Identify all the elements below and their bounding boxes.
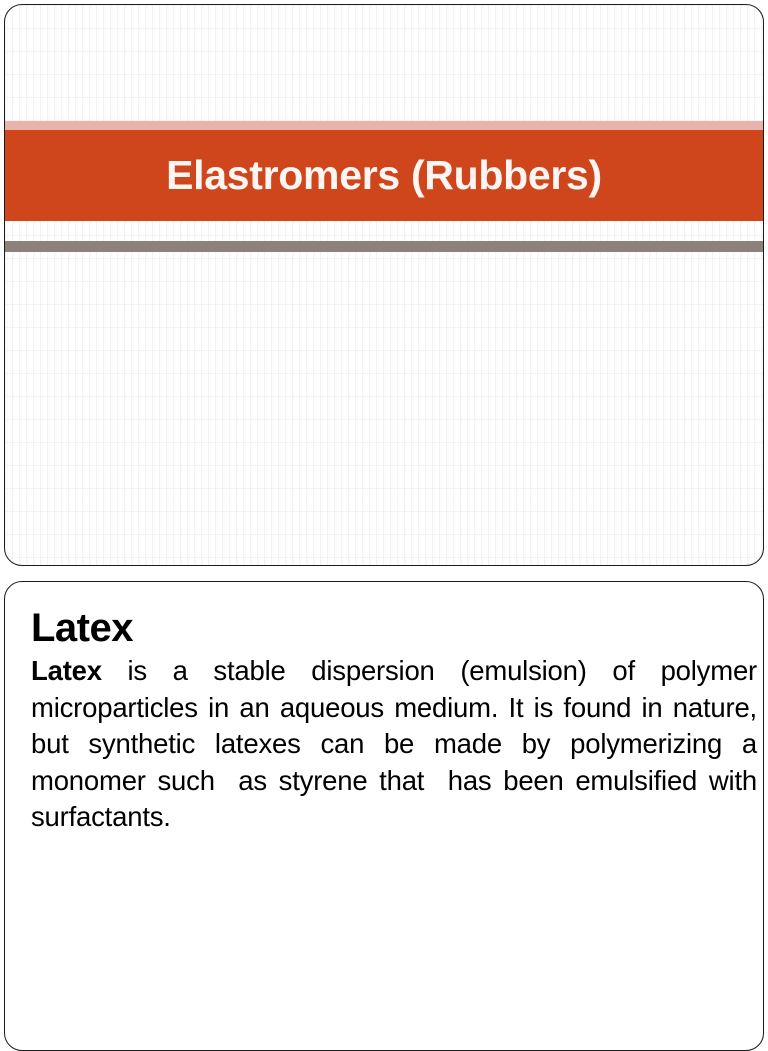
content-body-text: is a stable dispersion (emulsion) of pol… (31, 655, 764, 832)
content-slide[interactable]: Latex Latex is a stable dispersion (emul… (4, 581, 764, 1051)
banner-bar: Elastromers (Rubbers) (5, 130, 763, 221)
title-slide[interactable]: Elastromers (Rubbers) (4, 4, 764, 566)
content-heading: Latex (31, 607, 755, 649)
slide-title-text: Elastromers (Rubbers) (166, 155, 602, 196)
banner-accent-stripe (5, 121, 763, 130)
content-lead-term: Latex (31, 655, 102, 686)
content-paragraph: Latex is a stable dispersion (emulsion) … (31, 653, 757, 836)
content-text-block: Latex Latex is a stable dispersion (emul… (31, 607, 755, 836)
banner-underline-bar (5, 241, 763, 252)
title-banner: Elastromers (Rubbers) (5, 121, 763, 221)
